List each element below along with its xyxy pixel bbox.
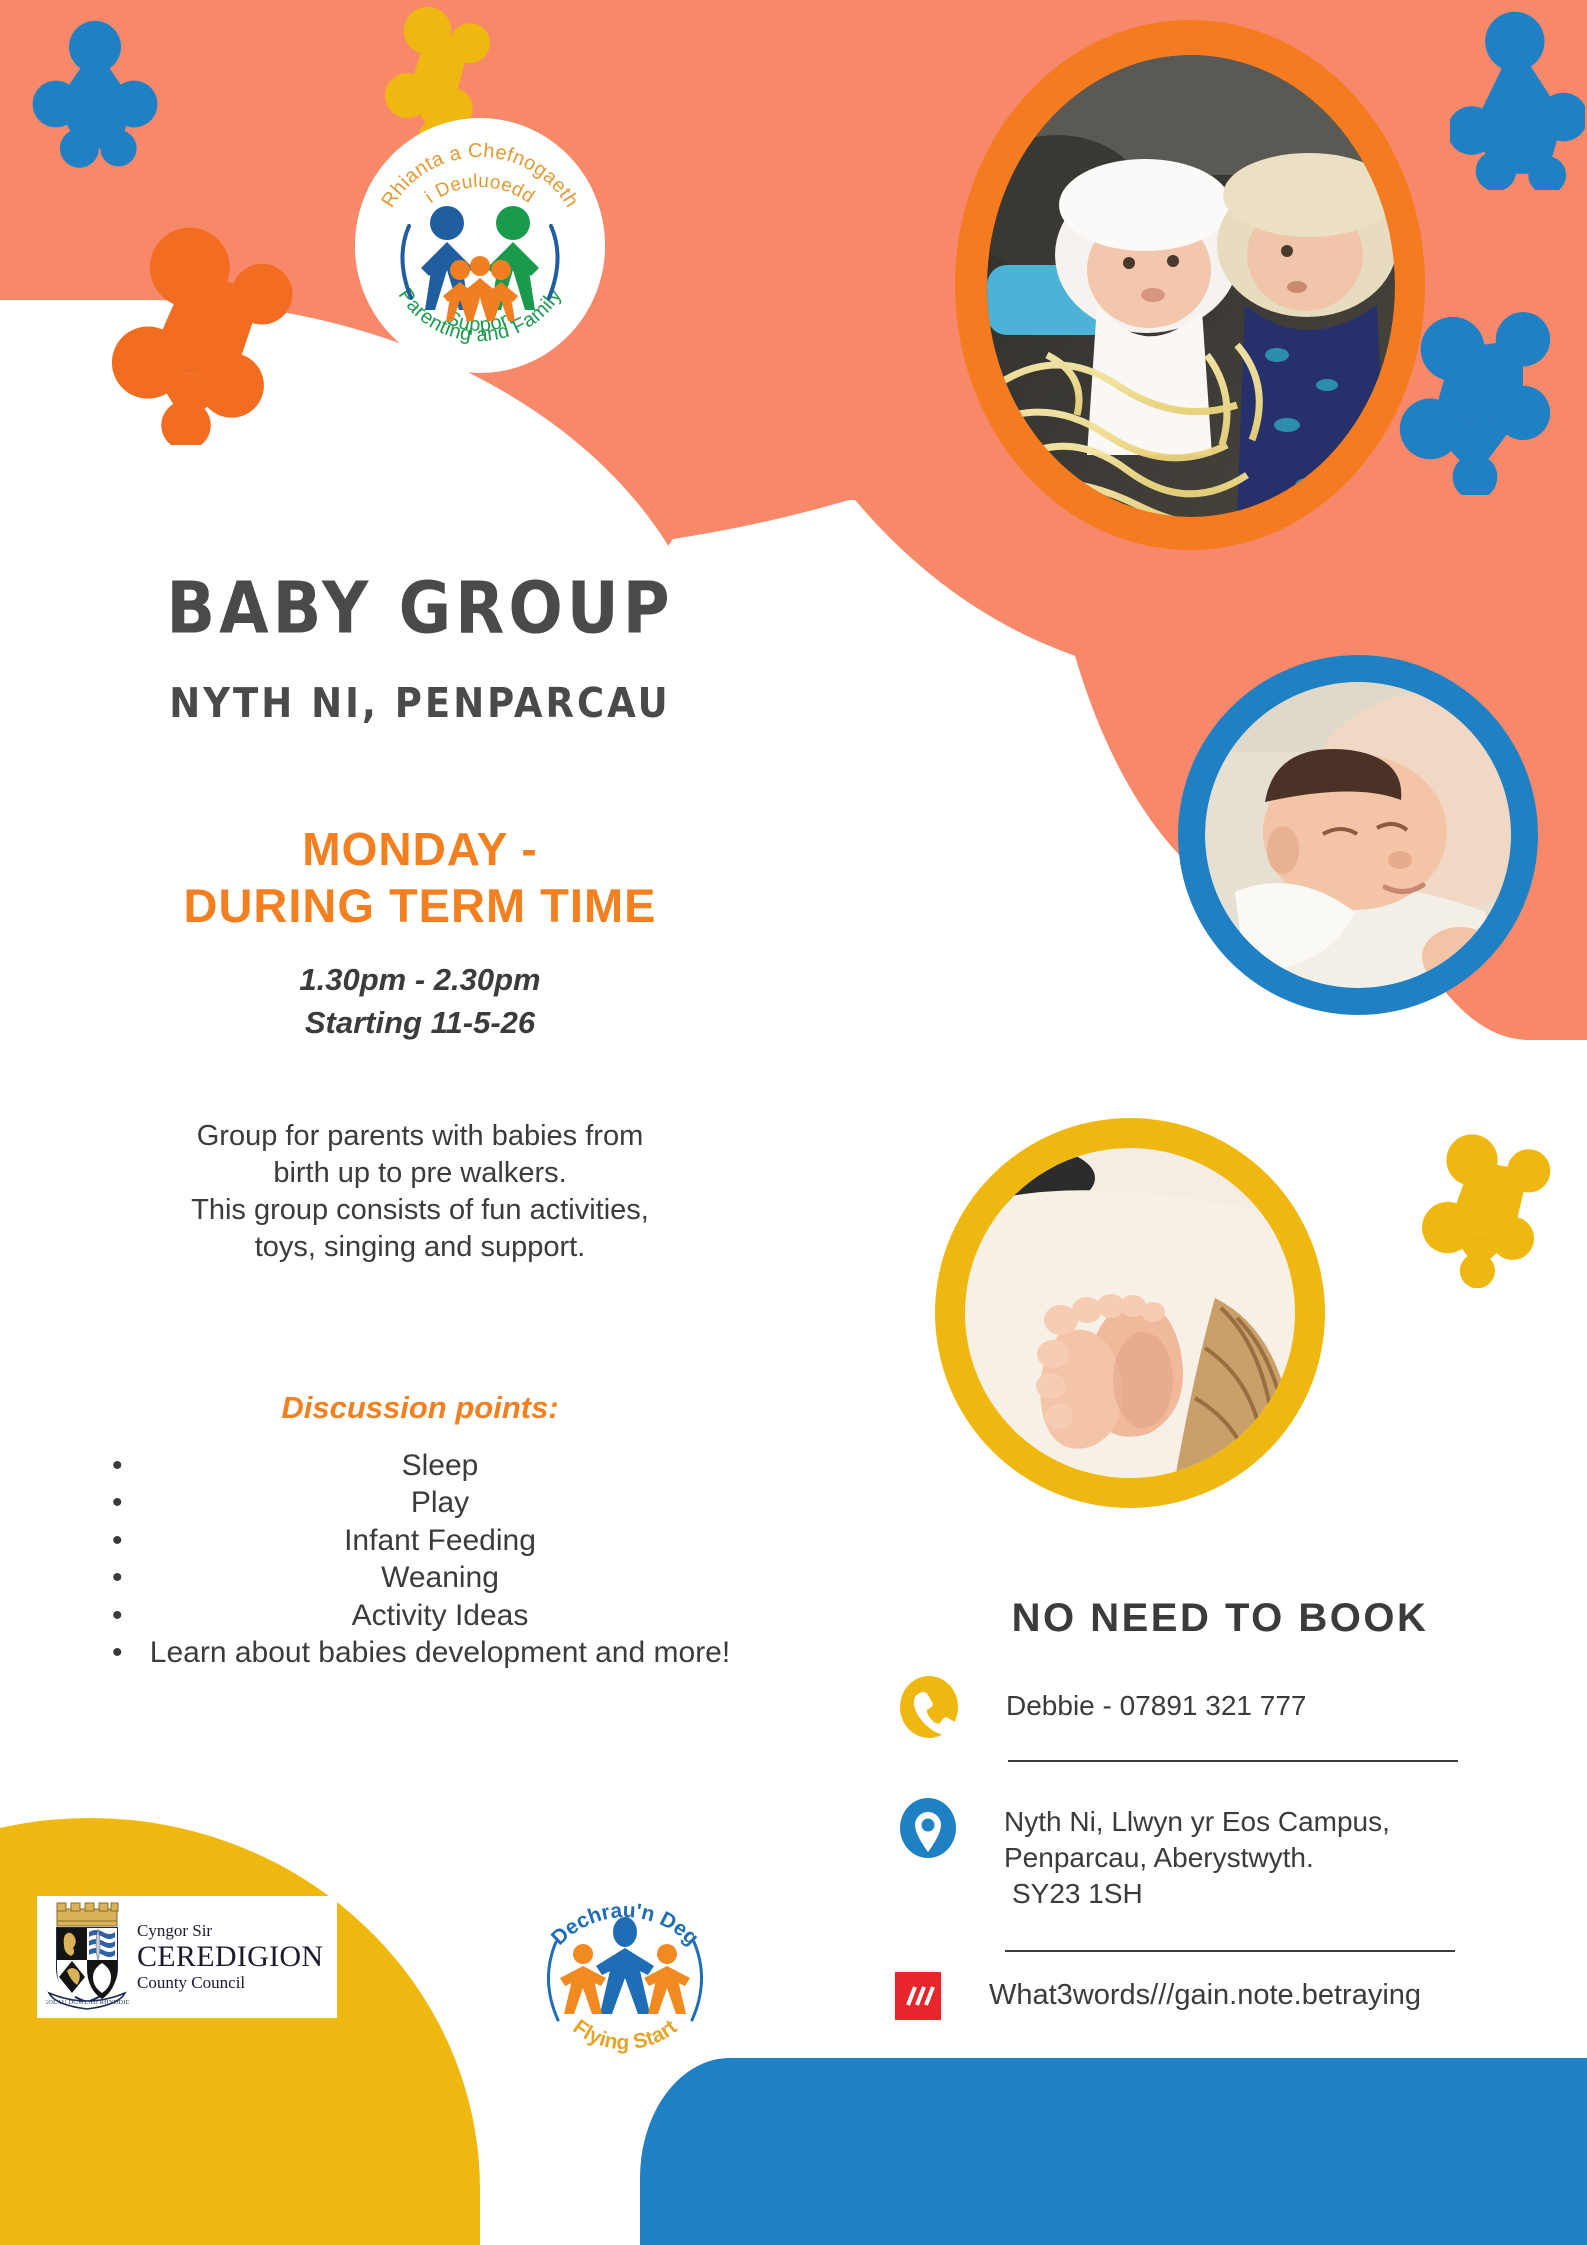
what3words-slashes-icon bbox=[895, 1972, 941, 2020]
contact-address-row[interactable]: Nyth Ni, Llwyn yr Eos Campus, Penparcau,… bbox=[900, 1798, 1540, 1911]
ceredigion-county-council-logo: GOLAU DGWLAD RHYDDID Cyngor Sir CEREDIGI… bbox=[37, 1896, 337, 2018]
what3words-address: What3words///gain.note.betraying bbox=[989, 1977, 1421, 2014]
bullet-icon: • bbox=[112, 1448, 123, 1483]
description-line: Group for parents with babies from bbox=[90, 1118, 750, 1155]
jack-shape-icon bbox=[110, 225, 300, 445]
schedule-day-line-1: MONDAY - bbox=[0, 822, 840, 876]
list-item-label: Activity Ideas bbox=[352, 1599, 529, 1632]
location-pin-icon bbox=[900, 1798, 956, 1874]
discussion-points-heading: Discussion points: bbox=[80, 1390, 760, 1426]
poster-canvas: Rhianta a Chefnogaeth i Deuluoedd Parent… bbox=[0, 0, 1587, 2245]
jack-shape-icon bbox=[1418, 1128, 1553, 1288]
schedule-time: 1.30pm - 2.30pm bbox=[0, 962, 840, 998]
list-item: •Infant Feeding bbox=[90, 1523, 790, 1558]
bullet-icon: • bbox=[112, 1635, 123, 1670]
list-item: •Activity Ideas bbox=[90, 1598, 790, 1633]
photo-baby-feet-basket bbox=[965, 1148, 1295, 1478]
list-item: •Sleep bbox=[90, 1448, 790, 1483]
council-line-1: Cyngor Sir bbox=[137, 1921, 323, 1941]
contact-what3words-row[interactable]: What3words///gain.note.betraying bbox=[895, 1972, 1575, 2020]
svg-text:Flying Start: Flying Start bbox=[569, 2015, 682, 2054]
contact-phone-row[interactable]: Debbie - 07891 321 777 bbox=[900, 1676, 1540, 1738]
phone-icon bbox=[900, 1676, 958, 1738]
address-line-2: Penparcau, Aberystwyth. bbox=[1004, 1840, 1390, 1876]
blue-background-blob bbox=[640, 2058, 1587, 2245]
list-item: •Play bbox=[90, 1485, 790, 1520]
list-item-label: Sleep bbox=[402, 1449, 479, 1482]
page-title: BABY GROUP bbox=[0, 568, 840, 651]
description-line: birth up to pre walkers. bbox=[90, 1155, 750, 1192]
council-wordmark: Cyngor Sir CEREDIGION County Council bbox=[137, 1921, 323, 1993]
list-item: •Learn about babies development and more… bbox=[90, 1635, 790, 1670]
list-item-label: Infant Feeding bbox=[344, 1524, 536, 1557]
schedule-start-date: Starting 11-5-26 bbox=[0, 1005, 840, 1041]
dechraun-deg-flying-start-logo: Dechrau'n Deg Flying Start bbox=[520, 1880, 730, 2080]
phone-number: Debbie - 07891 321 777 bbox=[1006, 1688, 1306, 1724]
page-subtitle: NYTH NI, PENPARCAU bbox=[0, 680, 840, 727]
list-item-label: Play bbox=[411, 1486, 469, 1519]
address-line-1: Nyth Ni, Llwyn yr Eos Campus, bbox=[1004, 1804, 1390, 1840]
description-text: Group for parents with babies from birth… bbox=[90, 1118, 750, 1266]
description-line: toys, singing and support. bbox=[90, 1229, 750, 1266]
photo-sleeping-newborn bbox=[1205, 682, 1511, 988]
address-line-3: SY23 1SH bbox=[1004, 1876, 1390, 1912]
list-item-label: Learn about babies development and more! bbox=[150, 1636, 730, 1669]
list-item-label: Weaning bbox=[381, 1561, 499, 1594]
booking-notice: NO NEED TO BOOK bbox=[880, 1596, 1560, 1641]
jack-shape-icon bbox=[1450, 5, 1585, 190]
svg-text:GOLAU DGWLAD RHYDDID: GOLAU DGWLAD RHYDDID bbox=[45, 1999, 129, 2006]
divider bbox=[1008, 1760, 1458, 1762]
description-line: This group consists of fun activities, bbox=[90, 1192, 750, 1229]
council-crest-icon: GOLAU DGWLAD RHYDDID bbox=[45, 1901, 129, 2013]
address: Nyth Ni, Llwyn yr Eos Campus, Penparcau,… bbox=[1004, 1804, 1390, 1911]
divider bbox=[1005, 1950, 1455, 1952]
jack-shape-icon bbox=[30, 18, 160, 168]
parenting-and-family-support-logo: Rhianta a Chefnogaeth i Deuluoedd Parent… bbox=[355, 118, 605, 373]
discussion-points-list: •Sleep •Play •Infant Feeding •Weaning •A… bbox=[90, 1448, 790, 1672]
council-line-2: CEREDIGION bbox=[137, 1941, 323, 1973]
photo-babies-playing-spaghetti bbox=[987, 55, 1395, 517]
schedule-day-line-2: DURING TERM TIME bbox=[0, 878, 840, 933]
bullet-icon: • bbox=[112, 1485, 123, 1520]
council-line-3: County Council bbox=[137, 1973, 323, 1993]
bullet-icon: • bbox=[112, 1523, 123, 1558]
bullet-icon: • bbox=[112, 1598, 123, 1633]
bullet-icon: • bbox=[112, 1560, 123, 1595]
yellow-background-blob bbox=[0, 1818, 480, 2245]
list-item: •Weaning bbox=[90, 1560, 790, 1595]
